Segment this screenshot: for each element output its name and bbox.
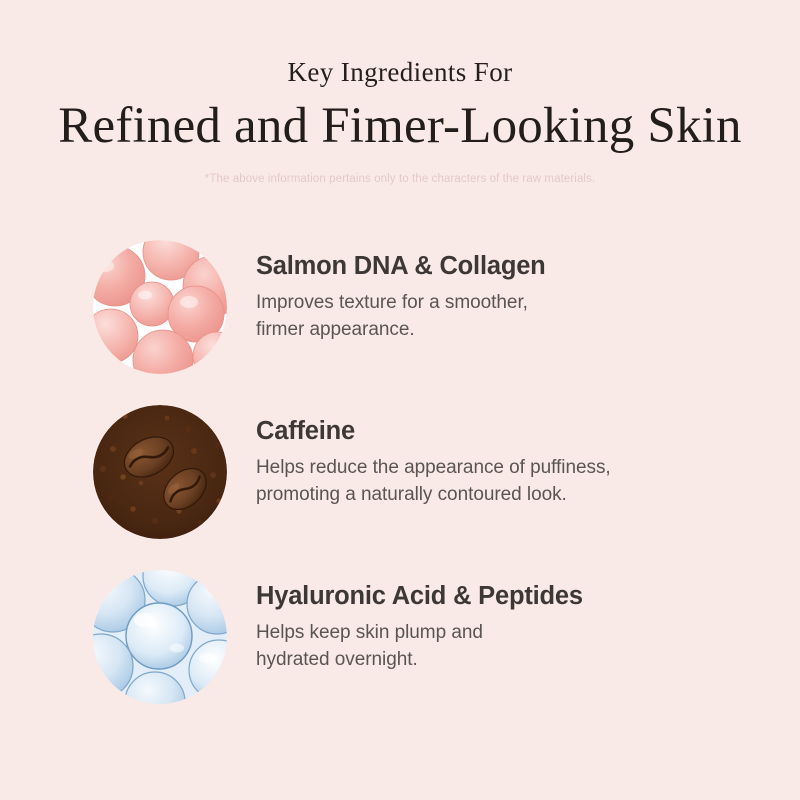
- list-item: Caffeine Helps reduce the appearance of …: [0, 405, 800, 570]
- description-line: Helps reduce the appearance of puffiness…: [256, 455, 611, 482]
- pink-collagen-capsules-photo: [93, 240, 227, 374]
- ingredient-list: Salmon DNA & Collagen Improves texture f…: [0, 240, 800, 735]
- coffee-grounds-and-beans-photo: [93, 405, 227, 539]
- page-title: Refined and Fimer-Looking Skin: [0, 98, 800, 155]
- ingredient-title: Caffeine: [256, 417, 611, 446]
- description-line: promoting a naturally contoured look.: [256, 482, 611, 509]
- description-line: hydrated overnight.: [256, 647, 583, 674]
- list-item: Hyaluronic Acid & Peptides Helps keep sk…: [0, 570, 800, 735]
- eyebrow-text: Key Ingredients For: [0, 58, 800, 88]
- description-line: Helps keep skin plump and: [256, 620, 583, 647]
- header: Key Ingredients For Refined and Fimer-Lo…: [0, 0, 800, 185]
- ingredient-copy: Caffeine Helps reduce the appearance of …: [256, 405, 611, 509]
- ingredient-description: Helps keep skin plump and hydrated overn…: [256, 620, 583, 674]
- blue-hyaluronic-spheres-photo: [93, 570, 227, 704]
- description-line: firmer appearance.: [256, 317, 546, 344]
- disclaimer-text: *The above information pertains only to …: [0, 173, 800, 185]
- ingredient-title: Hyaluronic Acid & Peptides: [256, 582, 583, 611]
- ingredient-copy: Salmon DNA & Collagen Improves texture f…: [256, 240, 546, 344]
- ingredient-copy: Hyaluronic Acid & Peptides Helps keep sk…: [256, 570, 583, 674]
- ingredient-title: Salmon DNA & Collagen: [256, 252, 546, 281]
- description-line: Improves texture for a smoother,: [256, 290, 546, 317]
- infographic-page: Key Ingredients For Refined and Fimer-Lo…: [0, 0, 800, 800]
- ingredient-description: Improves texture for a smoother, firmer …: [256, 290, 546, 344]
- ingredient-description: Helps reduce the appearance of puffiness…: [256, 455, 611, 509]
- list-item: Salmon DNA & Collagen Improves texture f…: [0, 240, 800, 405]
